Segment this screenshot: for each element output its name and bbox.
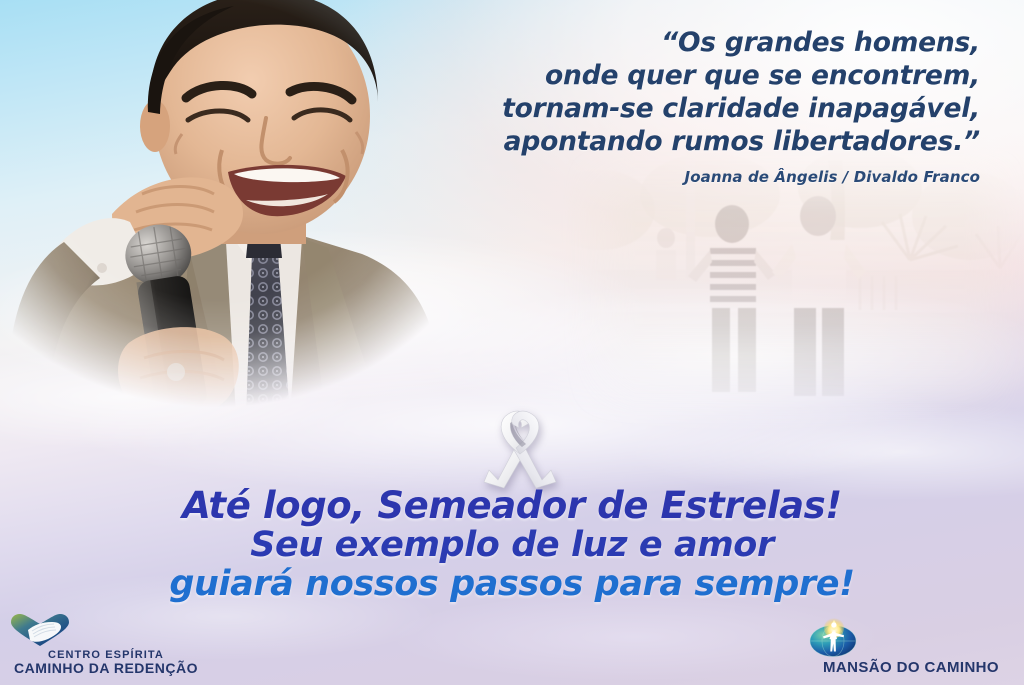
quote-line-4: apontando rumos libertadores.”	[420, 125, 980, 158]
headline-text: Até logo, Semeador de Estrelas! Seu exem…	[0, 486, 1024, 604]
portrait-photo-smiling-man-with-microphone	[0, 0, 460, 416]
faded-photo-two-people-walking	[560, 150, 1024, 430]
quote-line-2: onde quer que se encontrem,	[420, 59, 980, 92]
quote-line-1: “Os grandes homens,	[420, 26, 980, 59]
quote-text: “Os grandes homens, onde quer que se enc…	[420, 26, 980, 158]
logo-right-line-2: MANSÃO DO CAMINHO	[804, 660, 1018, 677]
logo-mansao-do-caminho: MANSÃO DO CAMINHO	[804, 618, 1018, 677]
logo-centro-espirita-caminho-da-redencao: CENTRO ESPÍRITA CAMINHO DA REDENÇÃO	[8, 613, 204, 677]
headline-line-2: Seu exemplo de luz e amor	[0, 526, 1024, 564]
globe-with-figure-and-light-icon	[804, 618, 1018, 658]
headline-line-1: Até logo, Semeador de Estrelas!	[0, 486, 1024, 526]
logo-left-text: CENTRO ESPÍRITA CAMINHO DA REDENÇÃO	[8, 649, 204, 677]
quote-line-3: tornam-se claridade inapagável,	[420, 92, 980, 125]
memorial-poster: “Os grandes homens, onde quer que se enc…	[0, 0, 1024, 685]
logo-right-text: MANSÃO DO CAMINHO	[804, 660, 1018, 677]
logo-left-line-2: CAMINHO DA REDENÇÃO	[8, 661, 204, 677]
white-mourning-ribbon-icon	[482, 408, 558, 490]
headline-line-3: guiará nossos passos para sempre!	[0, 564, 1024, 604]
quote-attribution: Joanna de Ângelis / Divaldo Franco	[420, 168, 980, 186]
heart-with-hand-icon	[8, 613, 204, 647]
